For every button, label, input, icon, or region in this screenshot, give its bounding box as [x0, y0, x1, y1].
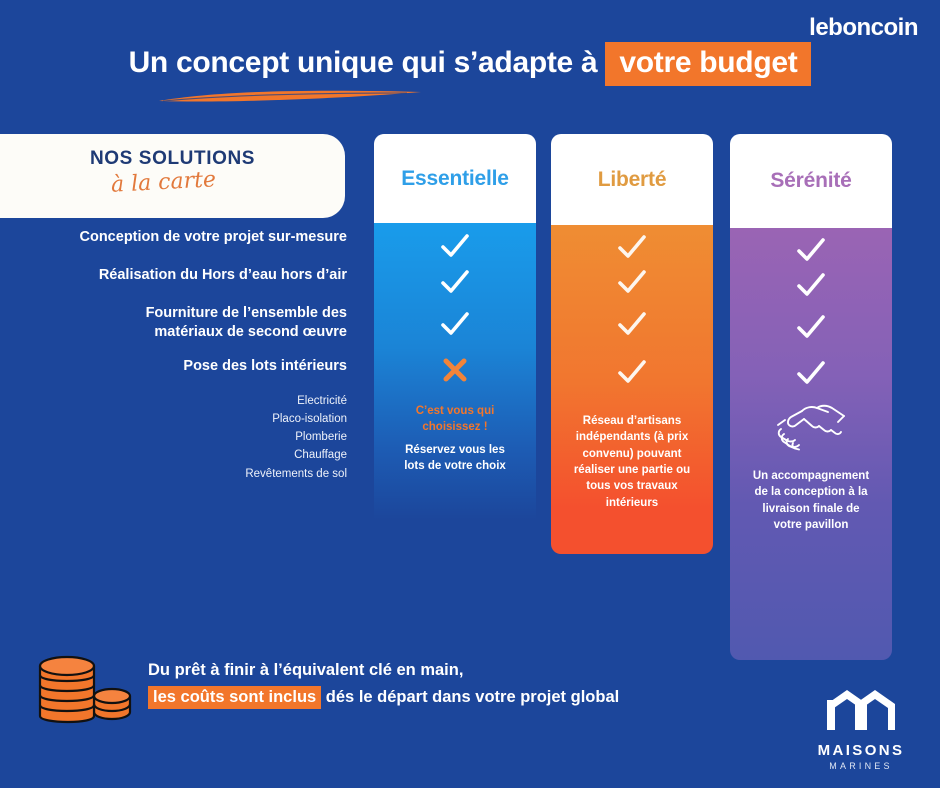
plan-note-line: tous vos travaux — [565, 478, 699, 494]
plan-note-line: choisissez ! — [388, 419, 522, 435]
house-roofs-icon — [825, 690, 897, 732]
footer-highlight-text: les coûts sont inclus — [148, 686, 321, 709]
plan-note-line: intérieurs — [565, 495, 699, 511]
plan-header: Sérénité — [730, 134, 892, 228]
check-icon — [796, 238, 826, 264]
plan-note: Un accompagnement de la conception à la … — [730, 468, 892, 533]
plan-note-line: votre pavillon — [744, 517, 878, 533]
check-mark-row — [440, 301, 470, 349]
check-mark-row — [617, 265, 647, 301]
feature-item: Pose des lots intérieurs — [0, 357, 347, 376]
plan-title: Liberté — [598, 168, 667, 192]
sub-feature-item: Plomberie — [0, 428, 347, 446]
sub-feature-item: Placo-isolation — [0, 410, 347, 428]
leboncoin-logo: leboncoin — [809, 14, 918, 42]
plan-header: Liberté — [551, 134, 713, 225]
check-mark-row — [617, 301, 647, 349]
company-subname: MARINES — [806, 761, 916, 771]
plan-note-line: indépendants (à prix — [565, 429, 699, 445]
check-mark-row — [440, 229, 470, 265]
check-icon — [440, 234, 470, 260]
check-icon — [617, 312, 647, 338]
feature-line: Fourniture de l’ensemble des — [0, 304, 347, 323]
plan-body: C’est vous qui choisissez ! Réservez vou… — [374, 223, 536, 520]
check-mark-row — [617, 349, 647, 397]
plan-marks — [730, 234, 892, 454]
page-title: Un concept unique qui s’adapte àvotre bu… — [129, 42, 812, 86]
check-icon — [440, 270, 470, 296]
headline-container: Un concept unique qui s’adapte àvotre bu… — [0, 42, 940, 86]
plan-note: Réseau d’artisans indépendants (à prix c… — [551, 413, 713, 511]
handshake-mark-row — [772, 396, 850, 454]
plan-note-line: lots de votre choix — [388, 458, 522, 474]
check-icon — [617, 270, 647, 296]
plan-card-essentielle[interactable]: Essentielle — [374, 134, 536, 520]
feature-list: Conception de votre projet sur-mesure Ré… — [0, 228, 347, 386]
plan-body: Réseau d’artisans indépendants (à prix c… — [551, 225, 713, 554]
headline-main-text: Un concept unique qui s’adapte à — [129, 46, 598, 79]
sub-feature-item: Chauffage — [0, 446, 347, 464]
check-icon — [617, 235, 647, 261]
plan-title: Essentielle — [401, 167, 509, 191]
check-mark-row — [796, 234, 826, 268]
cross-mark-row — [442, 349, 468, 391]
check-icon — [440, 312, 470, 338]
plan-note-line: Un accompagnement — [744, 468, 878, 484]
check-mark-row — [796, 352, 826, 396]
check-icon — [617, 360, 647, 386]
sub-feature-item: Revêtements de sol — [0, 465, 347, 483]
plan-title: Sérénité — [770, 169, 851, 193]
solutions-card: NOS SOLUTIONS à la carte — [0, 134, 345, 218]
plan-card-serenite[interactable]: Sérénité — [730, 134, 892, 660]
footer-message: Du prêt à finir à l’équivalent clé en ma… — [148, 657, 619, 710]
feature-item: Conception de votre projet sur-mesure — [0, 228, 347, 247]
plan-note-line: réaliser une partie ou — [565, 462, 699, 478]
plan-note-line: de la conception à la — [744, 484, 878, 500]
feature-item: Réalisation du Hors d’eau hors d’air — [0, 266, 347, 285]
plan-note-line: convenu) pouvant — [565, 446, 699, 462]
check-mark-row — [440, 265, 470, 301]
plan-note-line: Réseau d’artisans — [565, 413, 699, 429]
maisons-marines-logo: MAISONS MARINES — [806, 690, 916, 771]
footer-line-1: Du prêt à finir à l’équivalent clé en ma… — [148, 657, 619, 684]
plan-note: C’est vous qui choisissez ! Réservez vou… — [374, 403, 536, 474]
plan-marks — [551, 231, 713, 397]
sub-feature-item: Electricité — [0, 392, 347, 410]
sub-feature-list: Electricité Placo-isolation Plomberie Ch… — [0, 392, 347, 483]
footer-line-2: les coûts sont inclus dés le départ dans… — [148, 684, 619, 711]
check-icon — [796, 361, 826, 387]
check-mark-row — [796, 268, 826, 304]
plan-marks — [374, 229, 536, 391]
headline-highlight-text: votre budget — [605, 42, 811, 86]
cross-icon — [442, 358, 468, 382]
underline-swoosh-icon — [157, 88, 425, 104]
plan-header: Essentielle — [374, 134, 536, 223]
plan-card-liberte[interactable]: Liberté — [551, 134, 713, 554]
footer-rest-text: dés le départ dans votre projet global — [321, 688, 619, 706]
plan-note-line: C’est vous qui — [388, 403, 522, 419]
plan-note-line: livraison finale de — [744, 501, 878, 517]
check-mark-row — [796, 304, 826, 352]
feature-line: matériaux de second œuvre — [0, 323, 347, 342]
company-name: MAISONS — [806, 742, 916, 759]
check-icon — [796, 315, 826, 341]
plan-body: Un accompagnement de la conception à la … — [730, 228, 892, 660]
check-mark-row — [617, 231, 647, 265]
handshake-icon — [772, 399, 850, 451]
plan-note-line: Réservez vous les — [388, 442, 522, 458]
check-icon — [796, 273, 826, 299]
coin-stack-icon — [32, 652, 132, 724]
feature-item: Fourniture de l’ensemble des matériaux d… — [0, 304, 347, 342]
